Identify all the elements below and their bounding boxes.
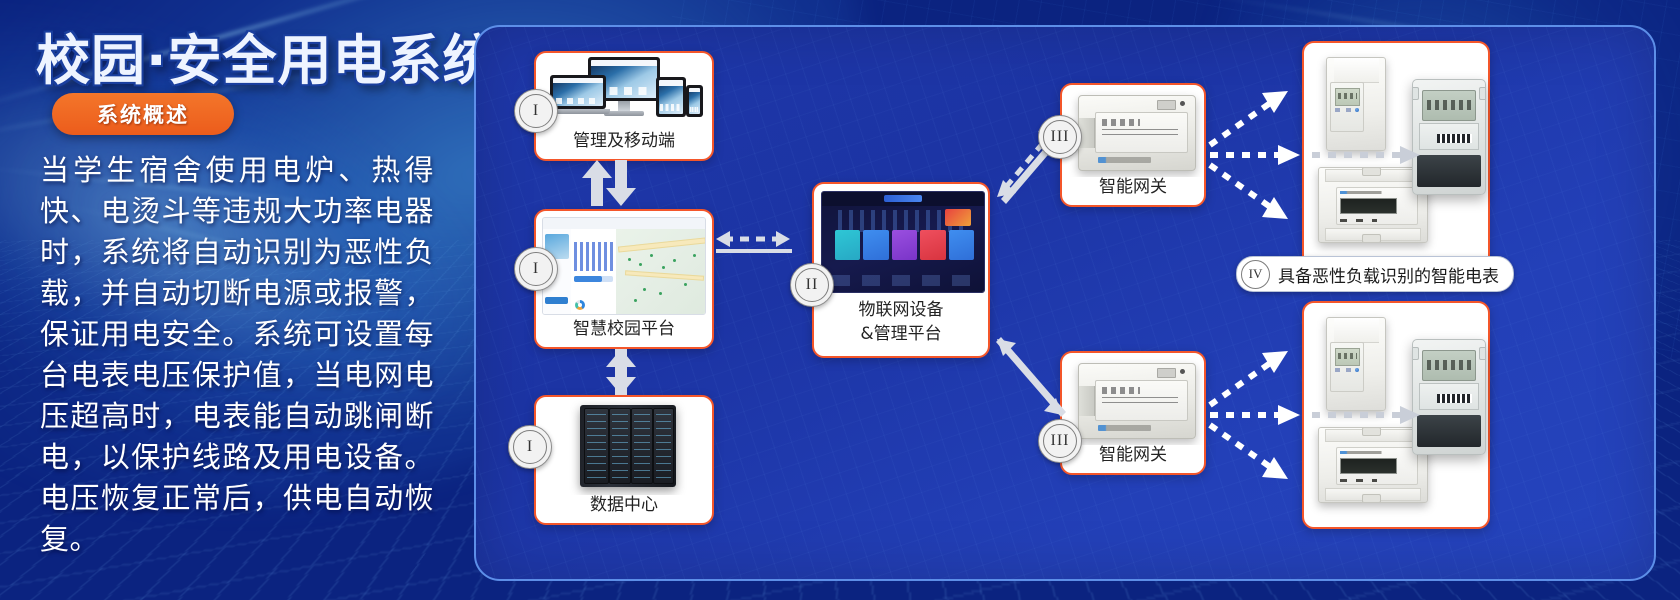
meter-callout-label: 具备恶性负载识别的智能电表 [1278,262,1499,287]
meter-callout-pill[interactable]: IV 具备恶性负载识别的智能电表 [1236,256,1514,292]
numeral-text: I [533,261,539,277]
numeral-text: I [533,103,539,119]
arrow-meter-to-meter-top-head [1400,146,1420,164]
node-data-center-numeral: I [508,425,552,469]
arrow-meter-to-meter-bottom-head [1400,406,1420,424]
numeral-text: II [806,277,819,293]
node-gateway-bottom-numeral: III [1038,419,1082,463]
page-title: 校园·安全用电系统 [36,16,498,95]
arrow-campus-iot-heads [716,231,792,253]
node-smart-campus-numeral: I [514,247,558,291]
numeral-text: IV [1249,266,1263,282]
node-iot-platform-numeral: II [790,263,834,307]
arrow-gateway-bottom-to-meters [1210,359,1288,471]
arrow-gateway-top-to-meters [1210,99,1288,211]
connector-arrow-layer [476,27,1654,579]
arrow-gateway-bottom-to-meters-heads [1262,351,1300,479]
left-info-panel: 校园·安全用电系统 系统概述 当学生宿舍使用电炉、热得快、电烫斗等违规大功率电器… [0,0,470,600]
arrow-admin-campus [582,160,636,206]
node-admin-mobile-numeral: I [514,89,558,133]
arrow-gateway-top-to-meters-heads [1262,91,1300,219]
meter-callout-numeral: IV [1241,260,1270,289]
section-badge: 系统概述 [52,93,234,135]
connectors-svg [476,27,1654,579]
arrow-campus-datacenter [606,349,636,395]
node-gateway-top-numeral: III [1038,115,1082,159]
arrow-iot-gateway-bottom-heads [996,337,1066,417]
numeral-text: I [527,439,533,455]
numeral-text: III [1051,129,1070,145]
architecture-diagram-panel: 管理及移动端 I [474,25,1656,581]
section-badge-label: 系统概述 [97,99,189,129]
overview-body-text: 当学生宿舍使用电炉、热得快、电烫斗等违规大功率电器时，系统将自动识别为恶性负载，… [40,150,434,560]
numeral-text: III [1051,433,1070,449]
